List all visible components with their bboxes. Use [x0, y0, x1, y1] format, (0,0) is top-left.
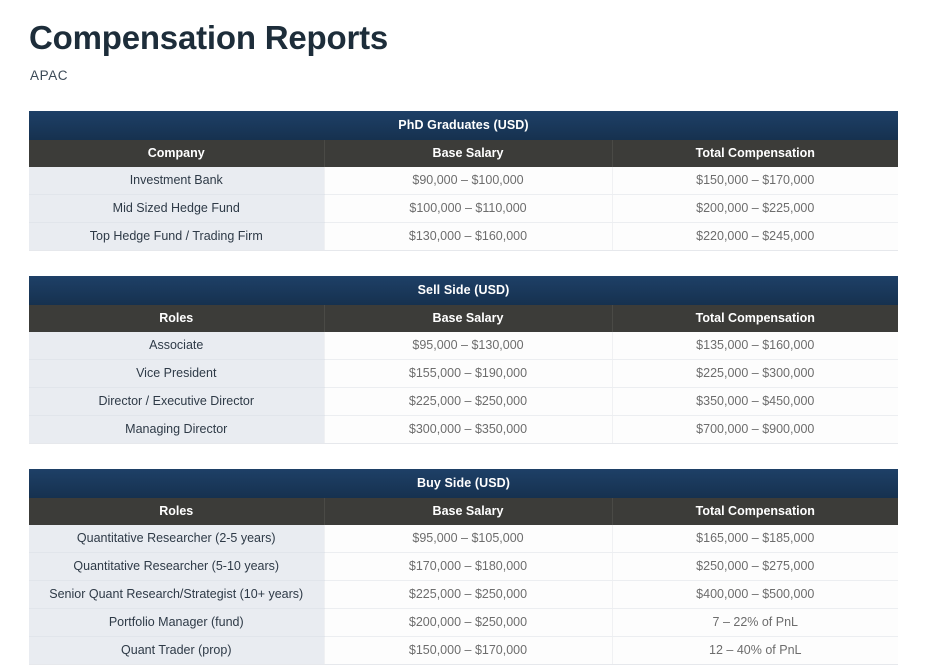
- value-cell: $90,000 – $100,000: [324, 167, 612, 195]
- table-row: Director / Executive Director$225,000 – …: [29, 388, 898, 416]
- column-header: Roles: [29, 305, 324, 332]
- role-cell: Quantitative Researcher (2-5 years): [29, 525, 324, 553]
- value-cell: $250,000 – $275,000: [612, 553, 898, 581]
- table-row: Associate$95,000 – $130,000$135,000 – $1…: [29, 332, 898, 360]
- value-cell: $225,000 – $250,000: [324, 388, 612, 416]
- value-cell: $350,000 – $450,000: [612, 388, 898, 416]
- value-cell: $200,000 – $250,000: [324, 609, 612, 637]
- table-title: PhD Graduates (USD): [29, 111, 898, 140]
- role-cell: Senior Quant Research/Strategist (10+ ye…: [29, 581, 324, 609]
- table-title: Buy Side (USD): [29, 469, 898, 498]
- page-header: Compensation Reports APAC: [0, 0, 925, 85]
- column-header: Base Salary: [324, 305, 612, 332]
- table-row: Mid Sized Hedge Fund$100,000 – $110,000$…: [29, 195, 898, 223]
- role-cell: Mid Sized Hedge Fund: [29, 195, 324, 223]
- table-header-row: CompanyBase SalaryTotal Compensation: [29, 140, 898, 167]
- tables-container: PhD Graduates (USD)CompanyBase SalaryTot…: [0, 111, 925, 665]
- value-cell: $150,000 – $170,000: [612, 167, 898, 195]
- value-cell: 12 – 40% of PnL: [612, 637, 898, 665]
- table-title-row: PhD Graduates (USD): [29, 111, 898, 140]
- table-header-row: RolesBase SalaryTotal Compensation: [29, 305, 898, 332]
- table-title: Sell Side (USD): [29, 276, 898, 305]
- role-cell: Director / Executive Director: [29, 388, 324, 416]
- role-cell: Top Hedge Fund / Trading Firm: [29, 223, 324, 251]
- column-header: Base Salary: [324, 498, 612, 525]
- role-cell: Associate: [29, 332, 324, 360]
- value-cell: $225,000 – $300,000: [612, 360, 898, 388]
- table-row: Quantitative Researcher (5-10 years)$170…: [29, 553, 898, 581]
- value-cell: $300,000 – $350,000: [324, 416, 612, 444]
- column-header: Base Salary: [324, 140, 612, 167]
- role-cell: Vice President: [29, 360, 324, 388]
- column-header: Company: [29, 140, 324, 167]
- value-cell: $100,000 – $110,000: [324, 195, 612, 223]
- compensation-reports-page: Compensation Reports APAC PhD Graduates …: [0, 0, 925, 614]
- comp-table: PhD Graduates (USD)CompanyBase SalaryTot…: [29, 111, 898, 251]
- table-row: Portfolio Manager (fund)$200,000 – $250,…: [29, 609, 898, 637]
- column-header: Total Compensation: [612, 498, 898, 525]
- table-row: Quant Trader (prop)$150,000 – $170,00012…: [29, 637, 898, 665]
- role-cell: Quantitative Researcher (5-10 years): [29, 553, 324, 581]
- role-cell: Portfolio Manager (fund): [29, 609, 324, 637]
- comp-table: Buy Side (USD)RolesBase SalaryTotal Comp…: [29, 469, 898, 665]
- value-cell: $220,000 – $245,000: [612, 223, 898, 251]
- value-cell: 7 – 22% of PnL: [612, 609, 898, 637]
- value-cell: $165,000 – $185,000: [612, 525, 898, 553]
- role-cell: Managing Director: [29, 416, 324, 444]
- value-cell: $700,000 – $900,000: [612, 416, 898, 444]
- table-title-row: Sell Side (USD): [29, 276, 898, 305]
- value-cell: $155,000 – $190,000: [324, 360, 612, 388]
- role-cell: Investment Bank: [29, 167, 324, 195]
- table-header-row: RolesBase SalaryTotal Compensation: [29, 498, 898, 525]
- column-header: Total Compensation: [612, 140, 898, 167]
- table-title-row: Buy Side (USD): [29, 469, 898, 498]
- table-row: Investment Bank$90,000 – $100,000$150,00…: [29, 167, 898, 195]
- table-row: Top Hedge Fund / Trading Firm$130,000 – …: [29, 223, 898, 251]
- table-row: Senior Quant Research/Strategist (10+ ye…: [29, 581, 898, 609]
- page-subtitle-region: APAC: [30, 67, 925, 85]
- value-cell: $150,000 – $170,000: [324, 637, 612, 665]
- value-cell: $130,000 – $160,000: [324, 223, 612, 251]
- value-cell: $95,000 – $130,000: [324, 332, 612, 360]
- value-cell: $225,000 – $250,000: [324, 581, 612, 609]
- value-cell: $135,000 – $160,000: [612, 332, 898, 360]
- comp-table: Sell Side (USD)RolesBase SalaryTotal Com…: [29, 276, 898, 444]
- table-row: Quantitative Researcher (2-5 years)$95,0…: [29, 525, 898, 553]
- value-cell: $400,000 – $500,000: [612, 581, 898, 609]
- page-title: Compensation Reports: [29, 18, 925, 58]
- value-cell: $95,000 – $105,000: [324, 525, 612, 553]
- table-row: Vice President$155,000 – $190,000$225,00…: [29, 360, 898, 388]
- value-cell: $200,000 – $225,000: [612, 195, 898, 223]
- column-header: Total Compensation: [612, 305, 898, 332]
- role-cell: Quant Trader (prop): [29, 637, 324, 665]
- column-header: Roles: [29, 498, 324, 525]
- value-cell: $170,000 – $180,000: [324, 553, 612, 581]
- table-row: Managing Director$300,000 – $350,000$700…: [29, 416, 898, 444]
